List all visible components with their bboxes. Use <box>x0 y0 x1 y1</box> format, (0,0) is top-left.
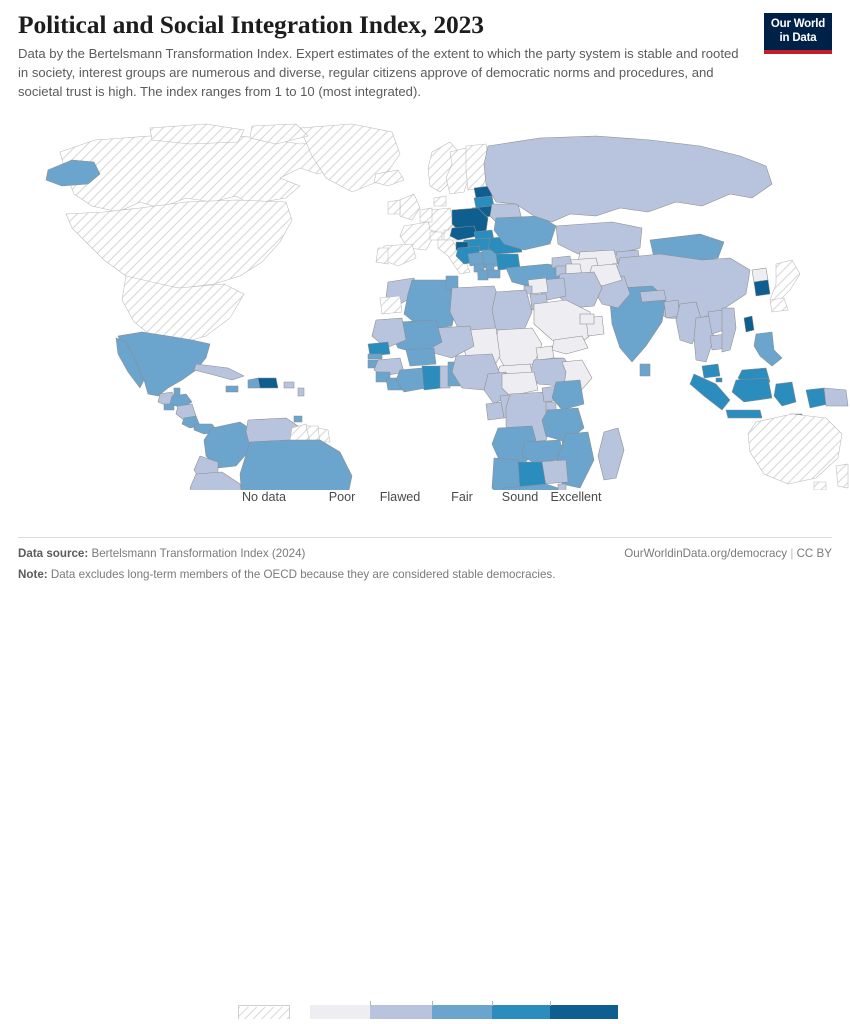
legend-bin-flawed[interactable] <box>370 1005 432 1019</box>
country-indonesia-java[interactable] <box>726 410 762 418</box>
footer-divider <box>18 537 832 538</box>
country-russia[interactable] <box>484 136 772 222</box>
country-united-states[interactable] <box>66 200 292 288</box>
note-label: Note: <box>18 568 48 581</box>
country-eritrea[interactable] <box>536 346 554 360</box>
map-country-layer <box>46 124 848 490</box>
country-vietnam[interactable] <box>722 308 736 352</box>
footer-source-row: Data source: Bertelsmann Transformation … <box>18 545 832 562</box>
legend-label-flawed: Flawed <box>380 490 421 504</box>
country-australia[interactable] <box>748 414 842 484</box>
owid-link[interactable]: OurWorldinData.org/democracy <box>624 547 787 560</box>
country-denmark[interactable] <box>434 196 446 206</box>
note-value: Data excludes long-term members of the O… <box>51 568 556 581</box>
legend-label-fair: Fair <box>451 490 473 504</box>
country-philippines[interactable] <box>754 332 782 366</box>
country-brazil[interactable] <box>240 440 352 490</box>
legend-bin-fair[interactable] <box>432 1005 492 1019</box>
country-el-salvador[interactable] <box>164 404 174 410</box>
country-rwanda[interactable] <box>546 402 556 410</box>
logo-line-2: in Data <box>764 32 832 46</box>
country-cuba[interactable] <box>194 364 244 380</box>
country-united-kingdom[interactable] <box>400 194 420 220</box>
legend-bin-poor[interactable] <box>310 1005 370 1019</box>
legend-label-poor: Poor <box>329 490 356 504</box>
country-ireland[interactable] <box>388 200 400 214</box>
legend-bin-excellent[interactable] <box>550 1005 618 1019</box>
map-svg <box>0 122 850 490</box>
data-source: Data source: Bertelsmann Transformation … <box>18 545 305 563</box>
legend-label-excellent: Excellent <box>550 490 601 504</box>
logo-line-1: Our World <box>764 18 832 32</box>
country-portugal[interactable] <box>376 248 388 264</box>
country-south-korea[interactable] <box>754 280 770 296</box>
country-indonesia-kalimantan[interactable] <box>732 378 772 402</box>
legend-swatch-no-data[interactable] <box>238 1005 290 1019</box>
world-choropleth-map[interactable] <box>0 122 850 490</box>
chart-footer: Data source: Bertelsmann Transformation … <box>18 545 832 584</box>
country-malaysia[interactable] <box>702 364 720 378</box>
chart-header: Political and Social Integration Index, … <box>18 10 832 102</box>
country-burkina-faso[interactable] <box>406 348 436 366</box>
country-peru[interactable] <box>190 472 244 490</box>
country-puerto-rico[interactable] <box>284 382 294 388</box>
owid-chart-root: Political and Social Integration Index, … <box>0 0 850 600</box>
country-north-korea[interactable] <box>752 268 768 282</box>
legend-bin-sound[interactable] <box>492 1005 550 1019</box>
country-western-sahara[interactable] <box>380 296 402 314</box>
country-sri-lanka[interactable] <box>640 364 650 376</box>
country-japan[interactable] <box>770 260 800 302</box>
country-central-african-republic[interactable] <box>502 372 538 396</box>
country-switzerland[interactable] <box>430 232 442 240</box>
country-gabon[interactable] <box>486 402 504 420</box>
country-lesser-antilles[interactable] <box>298 388 304 396</box>
data-source-label: Data source: <box>18 547 88 560</box>
country-uae[interactable] <box>580 314 594 324</box>
legend-color-bar[interactable] <box>310 1005 618 1019</box>
country-tasmania[interactable] <box>814 482 826 490</box>
footer-note-row: Note: Data excludes long-term members of… <box>18 566 832 584</box>
chart-subtitle: Data by the Bertelsmann Transformation I… <box>18 45 740 102</box>
country-dominican-republic[interactable] <box>258 378 278 388</box>
legend-label-sound: Sound <box>502 490 538 504</box>
license-link[interactable]: CC BY <box>797 547 832 560</box>
country-czechia[interactable] <box>450 226 478 240</box>
legend-hatch-swatch <box>239 1007 289 1019</box>
map-legend: No data Poor Flawed Fair Sound Excellent <box>0 490 850 536</box>
country-canada-arctic-1[interactable] <box>150 124 244 144</box>
country-indonesia-sulawesi[interactable] <box>774 382 796 406</box>
country-namibia[interactable] <box>492 458 520 490</box>
country-egypt[interactable] <box>492 290 532 330</box>
footer-separator: | <box>790 547 793 560</box>
data-source-value: Bertelsmann Transformation Index (2024) <box>91 547 305 560</box>
page-title: Political and Social Integration Index, … <box>18 10 832 39</box>
country-nepal[interactable] <box>640 290 666 302</box>
footer-links: OurWorldinData.org/democracy | CC BY <box>624 545 832 563</box>
legend-inner: No data Poor Flawed Fair Sound Excellent <box>0 490 850 536</box>
owid-logo[interactable]: Our World in Data <box>764 13 832 54</box>
country-japan-south[interactable] <box>770 298 788 312</box>
country-singapore[interactable] <box>716 378 722 382</box>
country-papua-new-guinea[interactable] <box>824 388 848 406</box>
country-gambia[interactable] <box>368 354 382 359</box>
country-kenya[interactable] <box>552 380 584 410</box>
country-netherlands-belgium[interactable] <box>420 208 432 222</box>
country-ghana[interactable] <box>422 366 442 390</box>
country-indonesia-sumatra[interactable] <box>690 374 730 410</box>
country-jamaica[interactable] <box>226 386 238 392</box>
country-taiwan[interactable] <box>744 316 754 332</box>
country-new-zealand[interactable] <box>836 464 848 488</box>
country-trinidad-and-tobago[interactable] <box>294 416 302 422</box>
country-north-macedonia[interactable] <box>488 270 500 278</box>
country-albania[interactable] <box>478 270 488 280</box>
country-madagascar[interactable] <box>598 428 624 480</box>
legend-label-no-data: No data <box>242 490 286 504</box>
